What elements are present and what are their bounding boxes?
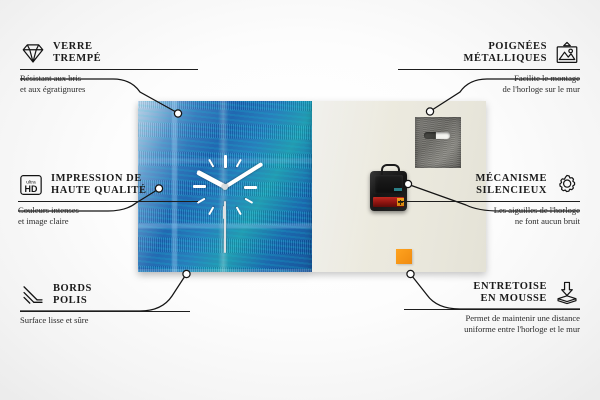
callout-desc-line2: et aux égratignures [20,84,205,95]
svg-text:HD: HD [25,184,38,194]
callout-divider [20,311,190,312]
callout-title-line1: IMPRESSION DE [51,173,147,186]
callout-title-line1: MÉCANISME [476,173,547,186]
polished-edges-icon [20,282,46,308]
callout-desc-line2: ne font aucun bruit [392,216,580,227]
callout-verre-trempe: VERRE TREMPÉ Résistant aux bris et aux é… [20,40,205,94]
metal-hanger-plate [415,117,461,168]
clock-second-hand [224,201,226,253]
callout-title-line1: BORDS [53,283,92,296]
callout-desc-line1: Couleurs intenses [18,205,208,216]
infographic-canvas: VERRE TREMPÉ Résistant aux bris et aux é… [0,0,600,400]
callout-desc-line1: Résistant aux bris [20,73,205,84]
callout-impression-haute-qualite: ultra HD IMPRESSION DE HAUTE QUALITÉ Cou… [18,172,208,226]
callout-divider [398,69,580,70]
callout-title-line2: HAUTE QUALITÉ [51,185,147,198]
callout-divider [404,309,580,310]
hanger-keyhole-slot [424,132,450,139]
callout-entretoise-en-mousse: ENTRETOISE EN MOUSSE Permet de maintenir… [398,280,580,334]
callout-poignees-metalliques: POIGNÉES MÉTALLIQUES Facilite le montage… [392,40,580,94]
callout-title-line2: EN MOUSSE [473,293,547,306]
callout-title-line1: POIGNÉES [464,41,547,54]
foam-spacer [396,249,412,264]
diamond-icon [20,40,46,66]
callout-mecanisme-silencieux: MÉCANISME SILENCIEUX Les aiguilles de l'… [392,172,580,226]
clock-center-pivot [222,184,228,190]
callout-divider [18,201,198,202]
callout-desc-line1: Facilite le montage [392,73,580,84]
callout-desc-line1: Surface lisse et sûre [20,315,200,326]
callout-title-line2: SILENCIEUX [476,185,547,198]
callout-divider [20,69,198,70]
callout-bords-polis: BORDS POLIS Surface lisse et sûre [20,282,200,326]
callout-title-line2: POLIS [53,295,92,308]
callout-divider [398,201,580,202]
clock-minute-hand [224,161,263,188]
gear-icon [554,172,580,198]
callout-desc-line1: Les aiguilles de l'horloge [392,205,580,216]
callout-title-line1: VERRE [53,41,101,54]
arrow-down-pad-icon [554,280,580,306]
callout-title-line2: TREMPÉ [53,53,101,66]
callout-desc-line2: et image claire [18,216,208,227]
callout-title-line2: MÉTALLIQUES [464,53,547,66]
callout-desc-line2: de l'horloge sur le mur [392,84,580,95]
callout-desc-line1: Permet de maintenir une distance [398,313,580,324]
callout-desc-line2: uniforme entre l'horloge et le mur [398,324,580,335]
callout-title-line1: ENTRETOISE [473,281,547,294]
ultra-hd-icon: ultra HD [18,172,44,198]
picture-frame-hanger-icon [554,40,580,66]
